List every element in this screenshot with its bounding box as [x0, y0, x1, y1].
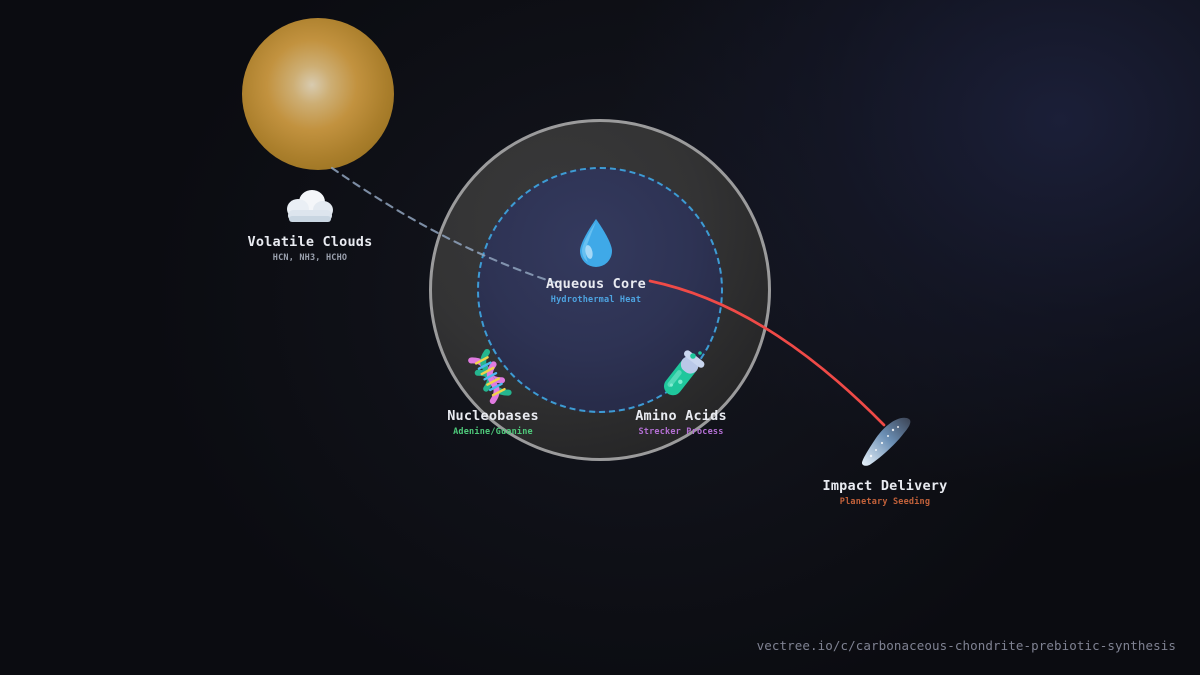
- footer: Vectree Synthesis of nucleobases and ami…: [0, 475, 1200, 675]
- cloud-icon: [190, 186, 430, 230]
- node-title: Aqueous Core: [476, 276, 716, 292]
- poster-canvas: Volatile Clouds HCN, NH3, HCHO Aqueous C…: [0, 0, 1200, 675]
- test-tube-icon: [561, 348, 801, 404]
- source-url: vectree.io/c/carbonaceous-chondrite-preb…: [757, 638, 1176, 653]
- node-subtitle: Hydrothermal Heat: [476, 295, 716, 305]
- node-title: Volatile Clouds: [190, 234, 430, 250]
- node-aqueous-core[interactable]: Aqueous Core Hydrothermal Heat: [476, 216, 716, 305]
- node-subtitle: HCN, NH3, HCHO: [190, 253, 430, 263]
- comet-icon: [765, 412, 1005, 474]
- water-droplet-icon: [476, 216, 716, 272]
- node-volatile-clouds[interactable]: Volatile Clouds HCN, NH3, HCHO: [190, 186, 430, 263]
